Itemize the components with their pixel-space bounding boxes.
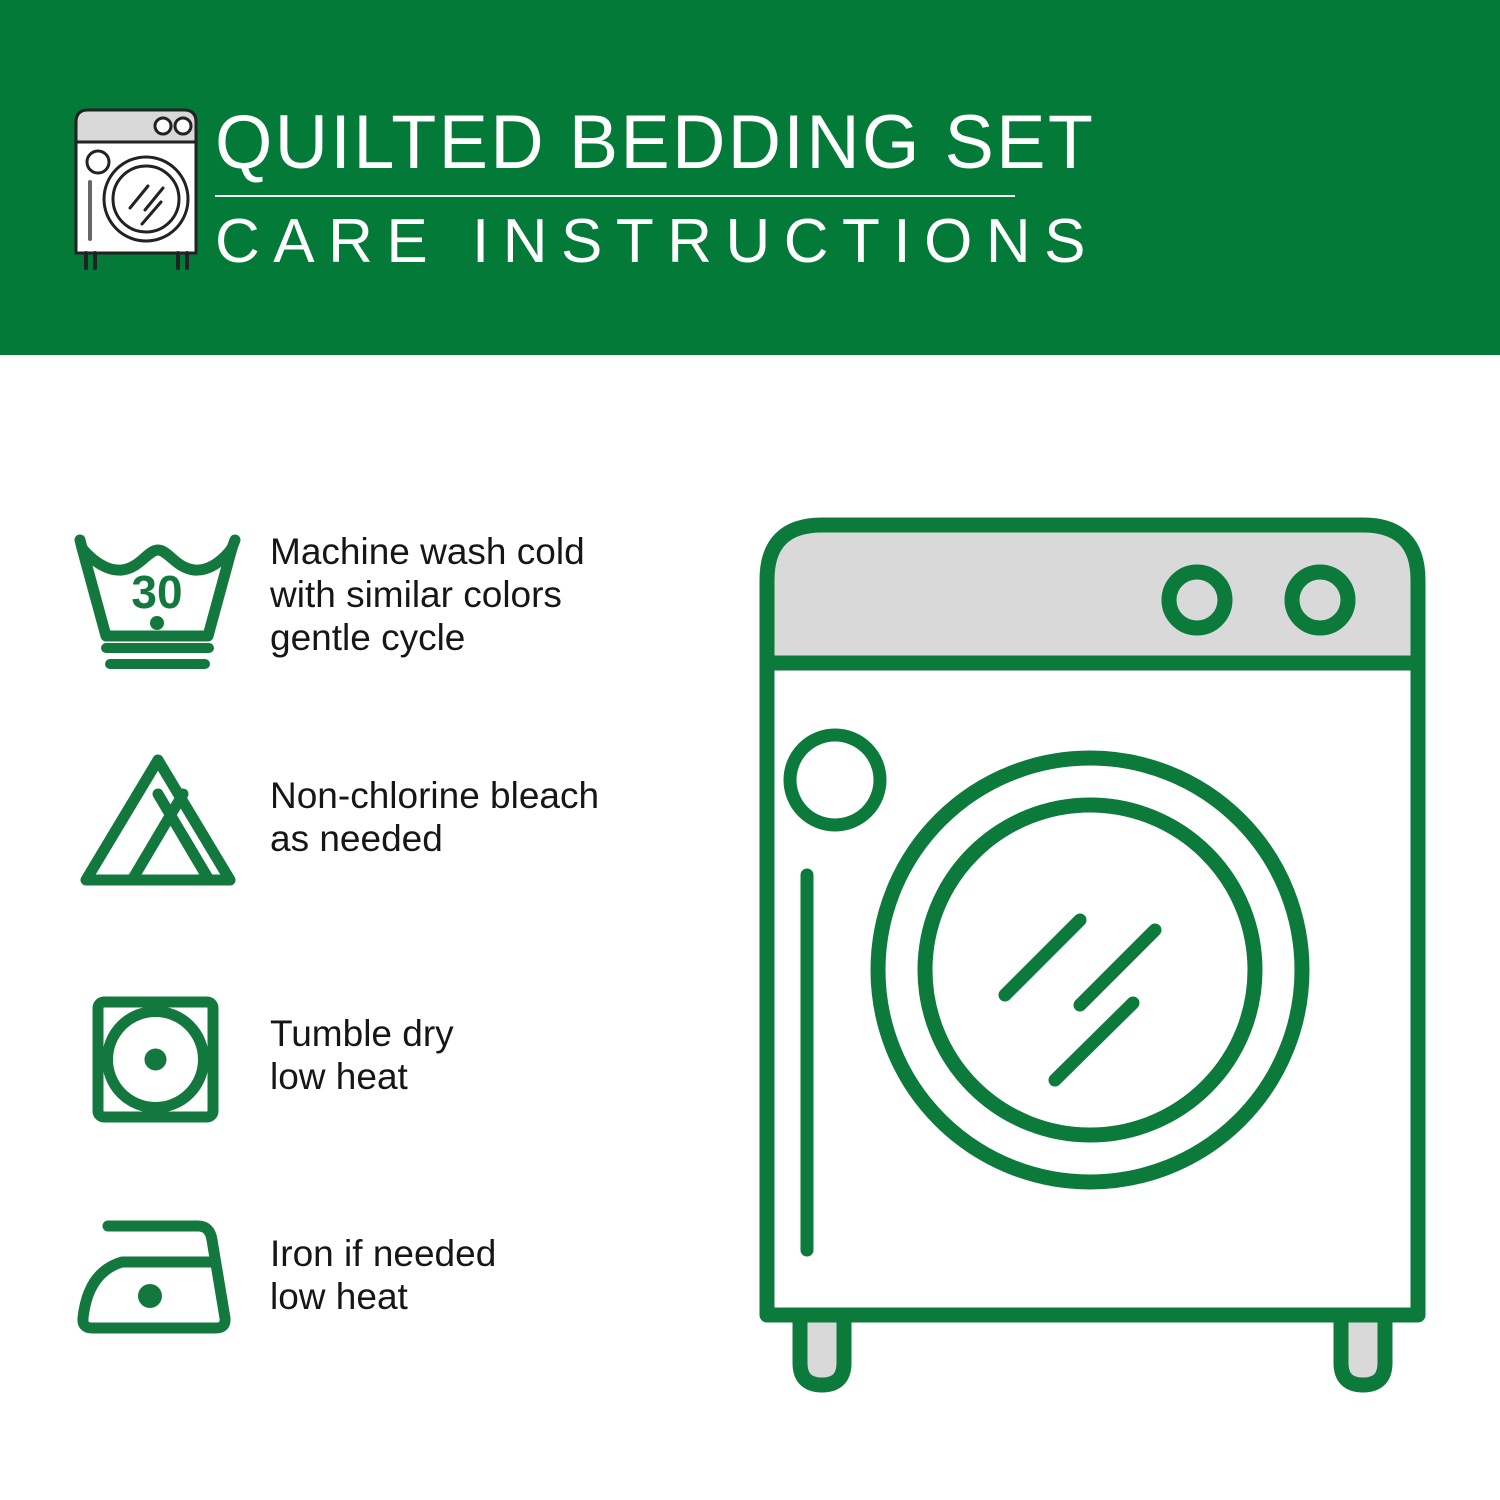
list-item: Non-chlorine bleach as needed bbox=[70, 738, 710, 898]
washing-machine-icon bbox=[62, 104, 210, 274]
care-instructions-page: QUILTED BEDDING SET CARE INSTRUCTIONS 30 bbox=[0, 0, 1500, 1500]
leg-left bbox=[800, 1315, 844, 1385]
leg-right bbox=[1341, 1315, 1385, 1385]
door-motion-lines bbox=[1005, 920, 1155, 1080]
header-banner: QUILTED BEDDING SET CARE INSTRUCTIONS bbox=[0, 0, 1500, 355]
control-panel bbox=[767, 525, 1418, 663]
instruction-label-dry: Tumble dry low heat bbox=[270, 978, 454, 1098]
door-inner-ring bbox=[925, 805, 1255, 1135]
title-divider bbox=[215, 195, 1015, 197]
non-chlorine-bleach-triangle-icon bbox=[70, 738, 270, 898]
instruction-label-iron: Iron if needed low heat bbox=[270, 1198, 496, 1318]
iron-low-heat-icon bbox=[70, 1198, 270, 1358]
list-item: 30 Machine wash cold with similar colors… bbox=[70, 518, 710, 678]
list-item: Iron if needed low heat bbox=[70, 1198, 710, 1358]
svg-text:30: 30 bbox=[131, 566, 182, 618]
tumble-dry-low-heat-icon bbox=[70, 978, 270, 1138]
front-load-washing-machine-illustration bbox=[735, 495, 1450, 1415]
page-subtitle: CARE INSTRUCTIONS bbox=[215, 207, 1020, 277]
list-item: Tumble dry low heat bbox=[70, 978, 710, 1138]
wash-tub-30-gentle-icon: 30 bbox=[70, 518, 270, 678]
instruction-label-bleach: Non-chlorine bleach as needed bbox=[270, 738, 599, 860]
page-title: QUILTED BEDDING SET bbox=[215, 100, 996, 186]
door-outer-ring bbox=[878, 758, 1302, 1182]
header-text-block: QUILTED BEDDING SET CARE INSTRUCTIONS bbox=[215, 100, 1020, 277]
detergent-indicator-circle bbox=[790, 735, 880, 825]
instruction-label-wash: Machine wash cold with similar colors ge… bbox=[270, 518, 585, 659]
